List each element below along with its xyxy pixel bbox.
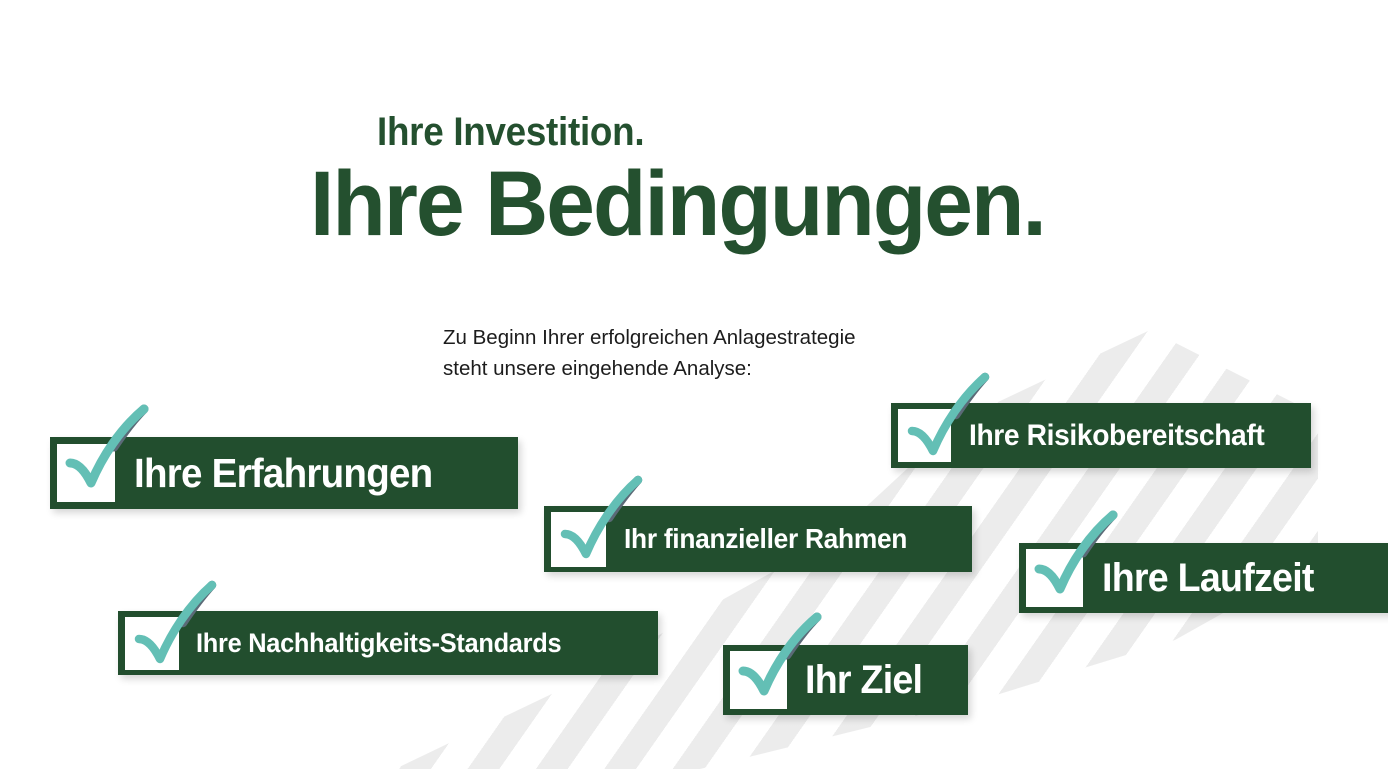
checklist-bar[interactable]: Ihre Laufzeit [1019, 543, 1388, 613]
page-title: Ihre Bedingungen. [310, 158, 1260, 252]
checklist-bar[interactable]: Ihre Nachhaltigkeits-Standards [118, 611, 658, 675]
checklist-label: Ihre Erfahrungen [134, 453, 432, 494]
checklist-item-ziel[interactable]: Ihr Ziel [723, 645, 968, 715]
checklist-label: Ihre Nachhaltigkeits-Standards [196, 630, 561, 657]
checklist-item-erfahrungen[interactable]: Ihre Erfahrungen [50, 437, 518, 509]
checklist-label: Ihr finanzieller Rahmen [624, 525, 907, 553]
checklist-item-finanzieller-rahmen[interactable]: Ihr finanzieller Rahmen [544, 506, 972, 572]
checkbox-box[interactable] [898, 409, 951, 462]
checklist-item-nachhaltigkeits-standards[interactable]: Ihre Nachhaltigkeits-Standards [118, 611, 658, 675]
checklist-label: Ihre Laufzeit [1102, 558, 1314, 598]
poster-canvas: Ihre Investition. Ihre Bedingungen. Zu B… [0, 0, 1388, 769]
checklist-label: Ihr Ziel [805, 660, 922, 700]
checkbox-box[interactable] [57, 444, 115, 502]
checkbox-box[interactable] [551, 512, 606, 567]
checklist-item-risikobereitschaft[interactable]: Ihre Risikobereitschaft [891, 403, 1311, 468]
checklist-label: Ihre Risikobereitschaft [969, 421, 1264, 451]
checklist-item-laufzeit[interactable]: Ihre Laufzeit [1019, 543, 1388, 613]
kicker-text: Ihre Investition. [377, 112, 1235, 152]
checklist-bar[interactable]: Ihre Erfahrungen [50, 437, 518, 509]
checklist-bar[interactable]: Ihr finanzieller Rahmen [544, 506, 972, 572]
intro-line-1: Zu Beginn Ihrer erfolgreichen Anlagestra… [443, 322, 1003, 353]
intro-paragraph: Zu Beginn Ihrer erfolgreichen Anlagestra… [443, 322, 1003, 384]
checkbox-box[interactable] [1026, 549, 1083, 607]
checklist-bar[interactable]: Ihre Risikobereitschaft [891, 403, 1311, 468]
checklist-bar[interactable]: Ihr Ziel [723, 645, 968, 715]
headline-block: Ihre Investition. Ihre Bedingungen. [310, 112, 1310, 252]
intro-line-2: steht unsere eingehende Analyse: [443, 353, 1003, 384]
checkbox-box[interactable] [730, 651, 787, 709]
checkbox-box[interactable] [125, 617, 179, 670]
